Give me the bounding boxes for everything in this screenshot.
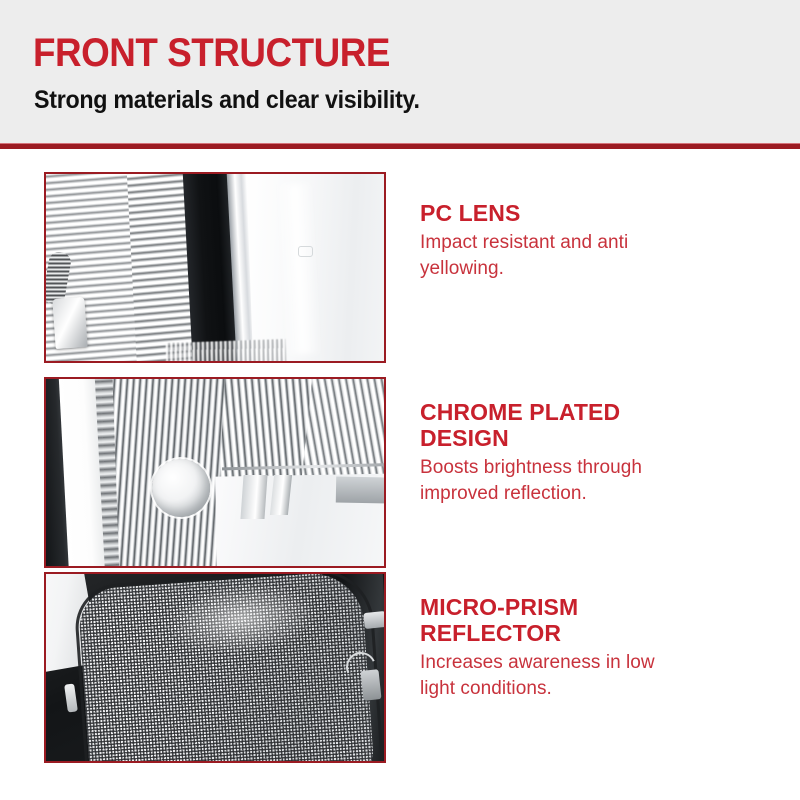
chrome-flute-group-right [302, 379, 384, 486]
chrome-reflector-photo [46, 379, 384, 566]
feature-text-chrome-plated-design: CHROME PLATED DESIGN Boosts brightness t… [420, 399, 770, 507]
feature-image-micro-prism-reflector [44, 572, 386, 763]
feature-title: MICRO-PRISM REFLECTOR [420, 594, 770, 646]
header-divider [0, 143, 800, 149]
page-subtitle: Strong materials and clear visibility. [34, 86, 420, 114]
lens-mounting-tab [52, 297, 87, 349]
pc-lens-photo [46, 174, 384, 361]
feature-text-pc-lens: PC LENS Impact resistant and anti yellow… [420, 200, 770, 282]
feature-title: PC LENS [420, 200, 770, 226]
feature-description: Boosts brightness through improved refle… [420, 455, 770, 507]
feature-image-chrome-plated-design [44, 377, 386, 568]
micro-prism-clip-top-right [363, 611, 384, 629]
feature-description: Increases awareness in low light conditi… [420, 650, 770, 702]
micro-prism-photo [46, 574, 384, 761]
chrome-bulb-opening [152, 459, 210, 517]
lens-lower-flutes [166, 339, 287, 361]
chrome-tab-right [336, 477, 384, 504]
page-title: FRONT STRUCTURE [33, 31, 390, 75]
feature-title: CHROME PLATED DESIGN [420, 399, 770, 451]
lens-molding-mark [298, 246, 313, 257]
chrome-tab-left [240, 475, 267, 519]
header-banner: FRONT STRUCTURE Strong materials and cle… [0, 0, 800, 143]
micro-prism-inner-ring [73, 574, 384, 761]
feature-description: Impact resistant and anti yellowing. [420, 230, 770, 282]
feature-text-micro-prism-reflector: MICRO-PRISM REFLECTOR Increases awarenes… [420, 594, 770, 702]
feature-image-pc-lens [44, 172, 386, 363]
